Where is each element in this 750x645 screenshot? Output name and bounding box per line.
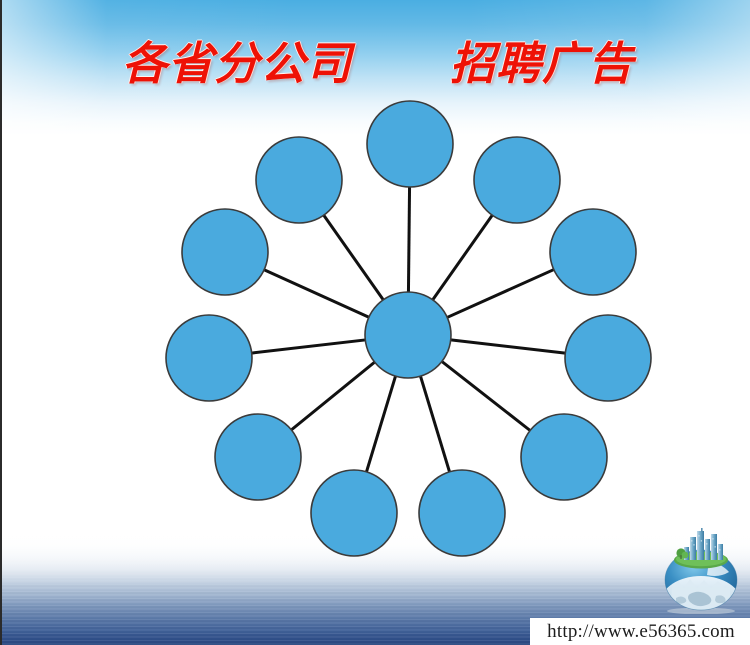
city-skyline (676, 528, 723, 560)
eco-city-globe-logo (654, 528, 748, 614)
slide-canvas: 各省分公司 招聘广告 (0, 0, 750, 645)
watermark-bar: http://www.e56365.com (530, 618, 750, 645)
branch-node-4[interactable] (565, 315, 651, 401)
branch-node-5[interactable] (521, 414, 607, 500)
branch-node-7[interactable] (311, 470, 397, 556)
spoke-line-3 (446, 269, 554, 318)
branch-node-3[interactable] (550, 209, 636, 295)
spoke-line-4 (450, 340, 567, 353)
hub-node-group (365, 292, 451, 378)
spoke-line-11 (323, 214, 384, 300)
branch-node-6[interactable] (419, 470, 505, 556)
branch-node-9[interactable] (166, 315, 252, 401)
spoke-line-2 (432, 214, 493, 300)
spoke-line-8 (291, 362, 376, 431)
hub-and-spoke-diagram (2, 0, 750, 645)
hub-node[interactable] (365, 292, 451, 378)
branch-node-8[interactable] (215, 414, 301, 500)
spoke-line-10 (263, 269, 370, 317)
branch-node-11[interactable] (256, 137, 342, 223)
spoke-line-7 (366, 375, 396, 473)
spoke-line-1 (408, 186, 409, 293)
watermark-url: http://www.e56365.com (547, 621, 735, 643)
spoke-line-5 (441, 361, 531, 431)
spoke-line-9 (251, 340, 367, 353)
spoke-line-6 (420, 375, 450, 473)
branch-node-2[interactable] (474, 137, 560, 223)
branch-node-10[interactable] (182, 209, 268, 295)
branch-node-1[interactable] (367, 101, 453, 187)
